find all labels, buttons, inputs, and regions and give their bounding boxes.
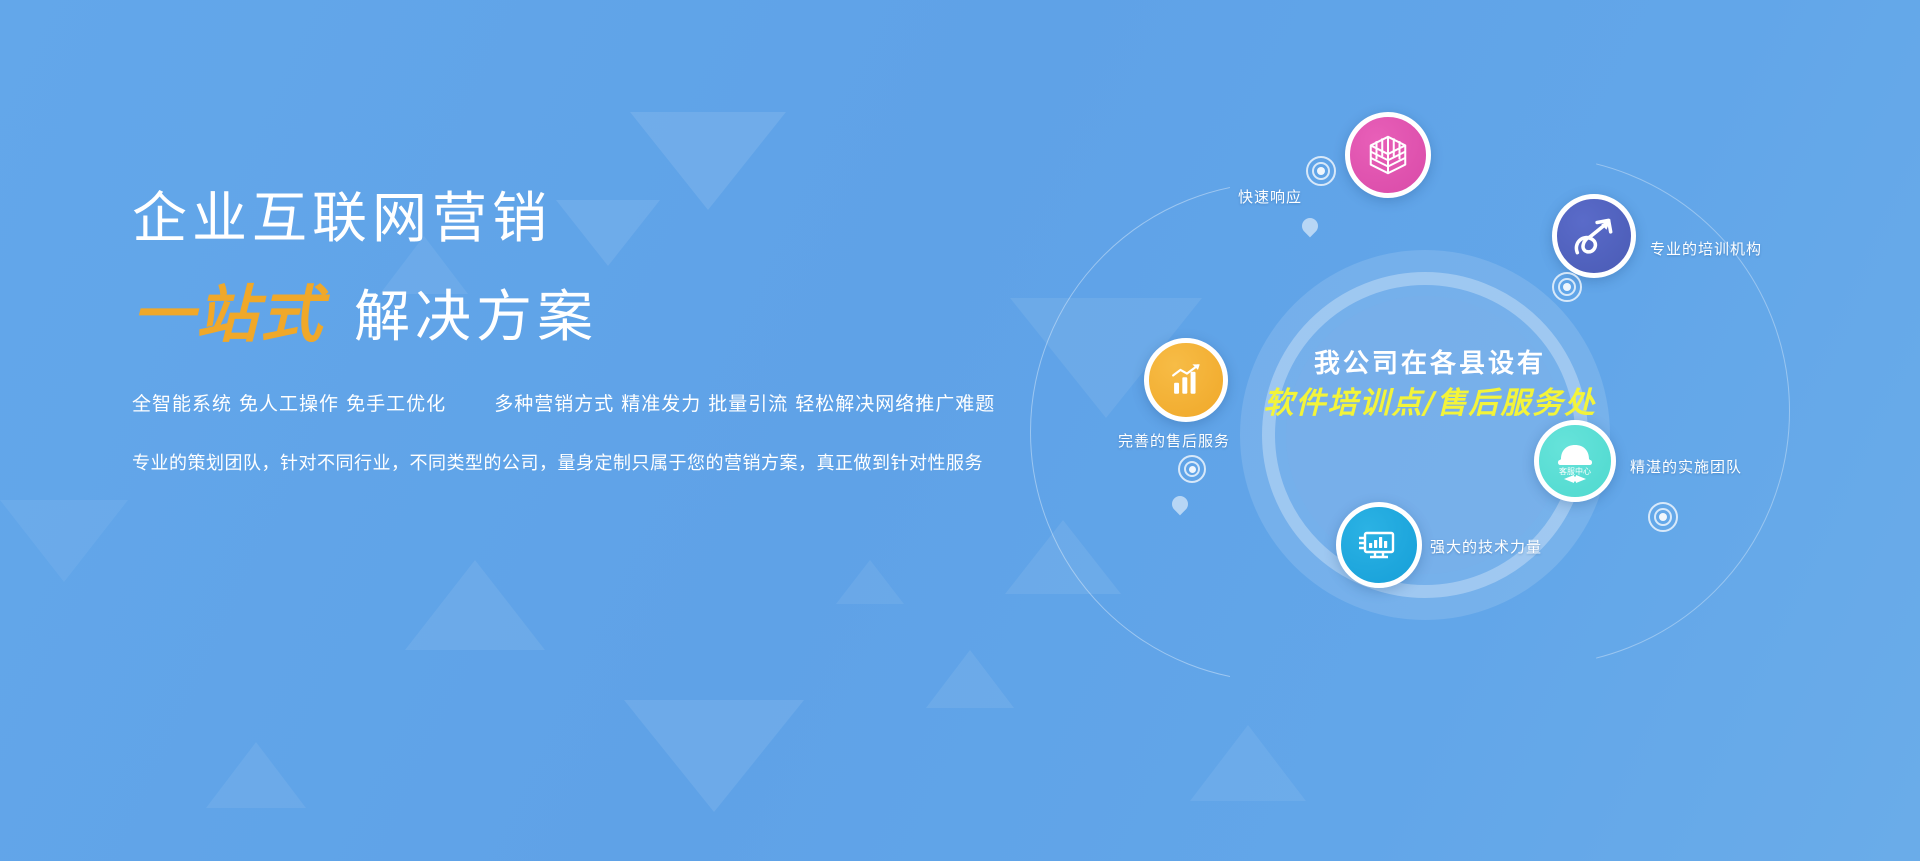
subtext-line-1: 全智能系统 免人工操作 免手工优化 多种营销方式 精准发力 批量引流 轻松解决网… [132,391,1092,417]
ring-inner-disc [1286,296,1564,574]
skilled-implementation-bubble[interactable]: 客服中心 [1534,420,1616,502]
orbit-pin-top [1299,215,1322,238]
decor-triangle-6 [405,560,545,650]
rocket-arrow-icon [1569,211,1619,261]
cube-icon [1365,132,1411,178]
center-message-line-2: 软件培训点/售后服务处 [1220,383,1640,425]
decor-triangle-10 [206,742,306,808]
decor-triangle-7 [624,700,804,812]
strong-technology-label: 强大的技术力量 [1430,538,1542,556]
fast-response-label: 快速响应 [1238,188,1302,206]
subtext-line-1a: 全智能系统 免人工操作 免手工优化 [132,393,446,415]
growth-chart-icon [1164,358,1208,402]
after-sales-service-label: 完善的售后服务 [1118,432,1230,450]
customer-service-icon-text: 客服中心 [1559,466,1591,476]
subtext-line-2: 专业的策划团队，针对不同行业，不同类型的公司，量身定制只属于您的营销方案，真正做… [132,451,1092,477]
customer-service-hat-icon: 客服中心 [1547,433,1603,489]
banner-root: 企业互联网营销 一站式 解决方案 全智能系统 免人工操作 免手工优化 多种营销方… [0,0,1920,861]
strong-technology-bubble[interactable] [1336,502,1422,588]
center-message: 我公司在各县设有 软件培训点/售后服务处 [1220,345,1640,425]
fast-response-target-icon [1306,156,1336,186]
subtext-line-1b: 多种营销方式 精准发力 批量引流 轻松解决网络推广难题 [494,393,995,415]
professional-training-label: 专业的培训机构 [1650,240,1762,258]
fast-response-bubble[interactable] [1345,112,1431,198]
feature-diagram: 我公司在各县设有 软件培训点/售后服务处 快速响应 [1090,120,1920,740]
orbit-target-bottom-left [1178,455,1206,483]
headline-second-line: 一站式 解决方案 [132,282,1092,351]
decor-triangle-11 [0,500,128,582]
copy-block: 企业互联网营销 一站式 解决方案 全智能系统 免人工操作 免手工优化 多种营销方… [132,186,1092,477]
skilled-implementation-label: 精湛的实施团队 [1630,458,1742,476]
after-sales-service-bubble[interactable] [1144,338,1228,422]
headline-rest: 解决方案 [354,285,598,351]
decor-triangle-12 [836,560,904,604]
headline-highlight: 一站式 [132,282,324,348]
page-title: 企业互联网营销 [132,186,1092,250]
center-message-line-1: 我公司在各县设有 [1220,345,1640,383]
skilled-implementation-target-icon [1648,502,1678,532]
decor-triangle-8 [926,650,1014,708]
monitor-icon [1355,521,1403,569]
professional-training-target-icon [1552,272,1582,302]
professional-training-bubble[interactable] [1552,194,1636,278]
